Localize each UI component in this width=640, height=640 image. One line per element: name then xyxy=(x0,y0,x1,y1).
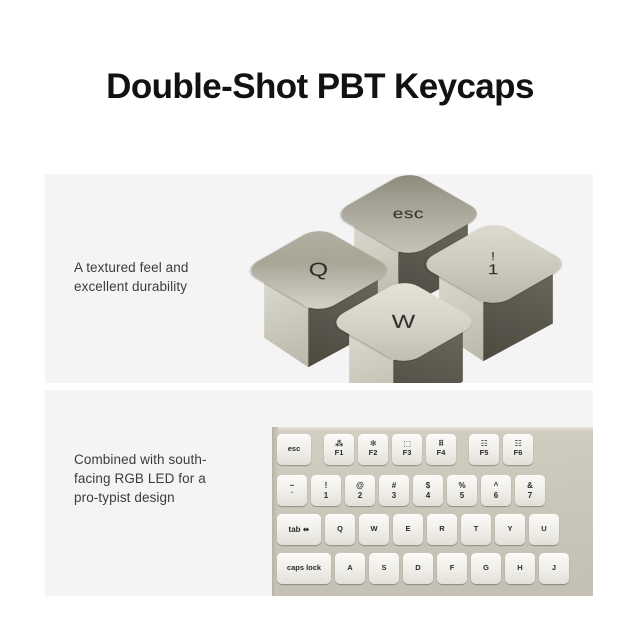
key-f1: ⁂F1 xyxy=(324,434,354,465)
keyboard-row-function-row: esc⁂F1✻F2⬚F3⠿F4☷F5☷F6 xyxy=(272,427,593,471)
key-t: T xyxy=(461,514,491,545)
key-esc: esc xyxy=(277,434,311,465)
key-d: D xyxy=(403,553,433,584)
key-legend: R xyxy=(439,525,444,534)
key-legend: J xyxy=(552,564,556,573)
key-1: !1 xyxy=(311,475,341,506)
key-shift-legend: $ xyxy=(426,481,430,490)
key-6: ^6 xyxy=(481,475,511,506)
panel-caption-rgb-led: Combined with south- facing RGB LED for … xyxy=(74,450,207,507)
key-legend: 7 xyxy=(528,491,532,500)
key-legend: F5 xyxy=(480,449,489,458)
key-legend: Q xyxy=(337,525,343,534)
key-legend: F1 xyxy=(335,449,344,458)
key-legend: H xyxy=(517,564,522,573)
key-shift-legend: ! xyxy=(325,481,328,490)
launchpad-icon: ⠿ xyxy=(438,440,444,448)
product-feature-page: Double-Shot PBT Keycaps A textured feel … xyxy=(0,0,640,640)
key-legend: E xyxy=(405,525,410,534)
key-s: S xyxy=(369,553,399,584)
keyboard-backlight-down-icon: ☷ xyxy=(481,440,488,448)
key-w: W xyxy=(359,514,389,545)
key-shift-legend: ~ xyxy=(290,481,295,490)
page-title: Double-Shot PBT Keycaps xyxy=(0,67,640,107)
isometric-keycaps-image: esc Q xyxy=(250,174,593,383)
key-h: H xyxy=(505,553,535,584)
key-`: ~` xyxy=(277,475,307,506)
key-legend: F xyxy=(450,564,455,573)
key-legend: tab ⬌ xyxy=(289,525,310,534)
key-legend: esc xyxy=(288,445,301,454)
keyboard-row-number-row: ~`!1@2#3$4%5^6&7 xyxy=(272,471,593,510)
key-legend: 1 xyxy=(324,491,328,500)
key-f2: ✻F2 xyxy=(358,434,388,465)
key-legend: 5 xyxy=(460,491,464,500)
keyboard-row-caps-lock-row: caps lockASDFGHJ xyxy=(272,549,593,588)
key-legend: caps lock xyxy=(287,564,321,573)
mission-control-icon: ⬚ xyxy=(403,440,410,448)
key-f4: ⠿F4 xyxy=(426,434,456,465)
key-shift-legend: @ xyxy=(356,481,364,490)
feature-panel-keycaps: A textured feel and excellent durability… xyxy=(45,174,593,383)
key-legend: Y xyxy=(507,525,512,534)
keyboard-image: esc⁂F1✻F2⬚F3⠿F4☷F5☷F6~`!1@2#3$4%5^6&7tab… xyxy=(272,427,593,596)
key-legend: S xyxy=(381,564,386,573)
key-legend: F3 xyxy=(403,449,412,458)
brightness-up-icon: ✻ xyxy=(370,440,376,448)
keyboard-key-rows: esc⁂F1✻F2⬚F3⠿F4☷F5☷F6~`!1@2#3$4%5^6&7tab… xyxy=(272,427,593,588)
key-tab: tab ⬌ xyxy=(277,514,321,545)
keyboard-backlight-up-icon: ☷ xyxy=(515,440,522,448)
key-legend: 2 xyxy=(358,491,362,500)
keyboard-row-tab-row: tab ⬌QWERTYU xyxy=(272,510,593,549)
feature-panel-rgb-led: Combined with south- facing RGB LED for … xyxy=(45,390,593,596)
keycap-w: W xyxy=(350,268,458,376)
panel-caption-textured-feel: A textured feel and excellent durability xyxy=(74,258,188,296)
key-legend: F2 xyxy=(369,449,378,458)
key-legend: 3 xyxy=(392,491,396,500)
key-legend: 6 xyxy=(494,491,498,500)
key-legend: 4 xyxy=(426,491,430,500)
key-f3: ⬚F3 xyxy=(392,434,422,465)
key-legend: F6 xyxy=(514,449,523,458)
key-legend: D xyxy=(415,564,420,573)
key-legend: T xyxy=(474,525,479,534)
key-g: G xyxy=(471,553,501,584)
key-4: $4 xyxy=(413,475,443,506)
key-shift-legend: & xyxy=(527,481,533,490)
key-7: &7 xyxy=(515,475,545,506)
key-j: J xyxy=(539,553,569,584)
key-shift-legend: % xyxy=(458,481,465,490)
key-u: U xyxy=(529,514,559,545)
key-legend: G xyxy=(483,564,489,573)
key-f5: ☷F5 xyxy=(469,434,499,465)
key-legend: F4 xyxy=(437,449,446,458)
brightness-down-icon: ⁂ xyxy=(335,440,343,448)
key-q: Q xyxy=(325,514,355,545)
key-shift-legend: # xyxy=(392,481,396,490)
key-legend: A xyxy=(347,564,352,573)
key-legend: ` xyxy=(291,491,294,500)
key-f6: ☷F6 xyxy=(503,434,533,465)
key-f: F xyxy=(437,553,467,584)
key-5: %5 xyxy=(447,475,477,506)
key-shift-legend: ^ xyxy=(494,481,499,490)
key-legend: W xyxy=(370,525,377,534)
key-3: #3 xyxy=(379,475,409,506)
key-legend: U xyxy=(541,525,546,534)
key-e: E xyxy=(393,514,423,545)
key-r: R xyxy=(427,514,457,545)
key-caps-lock: caps lock xyxy=(277,553,331,584)
key-a: A xyxy=(335,553,365,584)
key-2: @2 xyxy=(345,475,375,506)
key-y: Y xyxy=(495,514,525,545)
